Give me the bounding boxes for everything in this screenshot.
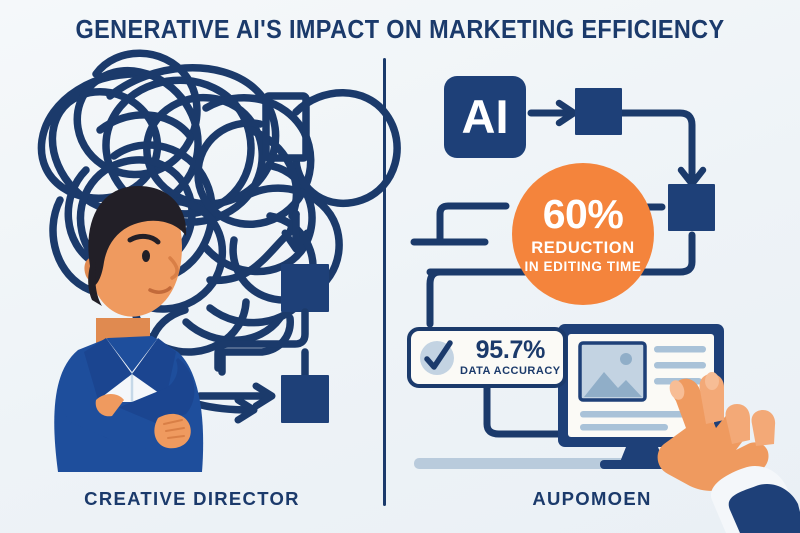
- right-box-1: [575, 88, 622, 135]
- accuracy-text-group: 95.7% DATA ACCURACY: [460, 338, 561, 377]
- accuracy-stat-value: 95.7%: [476, 338, 545, 363]
- right-panel-caption: AUPOMOEN: [384, 488, 800, 510]
- infographic-canvas: GENERATIVE AI'S IMPACT ON MARKETING EFFI…: [0, 0, 800, 533]
- right-panel-illustration: AI: [0, 0, 800, 533]
- monitor-stand: [620, 447, 664, 462]
- reduction-stat-value: 60%: [543, 194, 624, 234]
- accuracy-stat-badge: 95.7% DATA ACCURACY: [407, 327, 567, 388]
- checkmark-icon: [420, 341, 454, 375]
- accuracy-stat-label: DATA ACCURACY: [460, 365, 561, 377]
- ai-badge-label: AI: [462, 90, 509, 143]
- right-box-2: [668, 184, 715, 231]
- reduction-stat-label-line2: IN EDITING TIME: [525, 259, 642, 274]
- screen-image-sun-icon: [620, 353, 632, 365]
- reduction-stat-label-line1: REDUCTION: [531, 239, 634, 258]
- desk-bar: [414, 458, 626, 469]
- left-panel-caption: CREATIVE DIRECTOR: [0, 488, 384, 510]
- reduction-stat-badge: 60% REDUCTION IN EDITING TIME: [512, 163, 654, 305]
